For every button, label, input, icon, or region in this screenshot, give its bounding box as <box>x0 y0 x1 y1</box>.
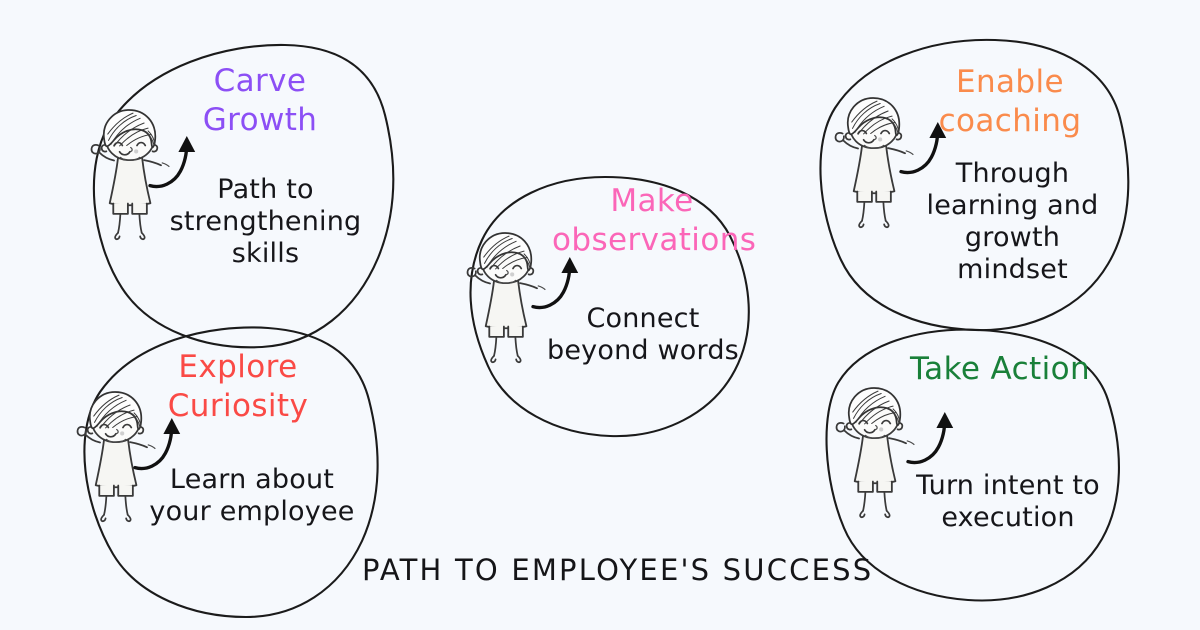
girl-waving-illustration <box>836 98 913 227</box>
girl-waving-illustration <box>837 388 914 517</box>
panel-body-take-action: Turn intent to execution <box>908 470 1108 534</box>
panel-body-carve-growth: Path to strengthening skills <box>158 174 373 270</box>
panel-body-explore-curiosity: Learn about your employee <box>142 464 362 528</box>
curved-up-arrow-icon <box>533 257 578 307</box>
panel-title-make-observations: Make observations <box>552 182 752 260</box>
panel-title-explore-curiosity: Explore Curiosity <box>148 348 328 426</box>
page-caption: PATH TO EMPLOYEE'S SUCCESS <box>362 553 873 587</box>
curved-up-arrow-icon <box>908 412 953 462</box>
infographic-canvas: Carve Growth Path to strengthening skill… <box>0 0 1200 630</box>
panel-title-take-action: Take Action <box>890 350 1110 389</box>
panel-title-enable-coaching: Enable coaching <box>915 63 1105 141</box>
panel-title-carve-growth: Carve Growth <box>170 62 350 140</box>
panel-body-enable-coaching: Through learning and growth mindset <box>925 158 1100 286</box>
panel-body-make-observations: Connect beyond words <box>531 303 755 367</box>
